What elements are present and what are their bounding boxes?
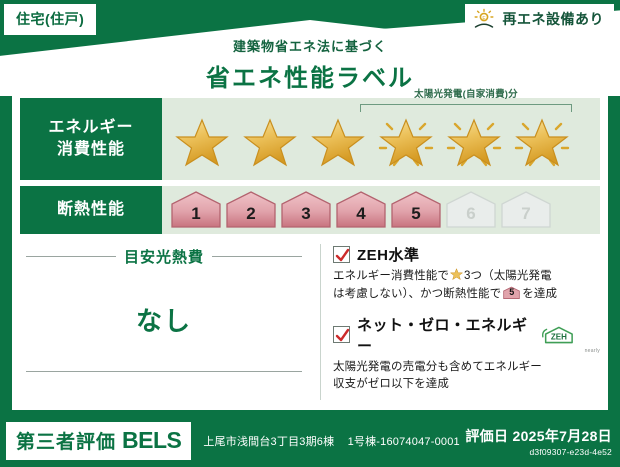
content-card: エネルギー 消費性能 太陽光発電(自家消費)分 <box>12 92 608 410</box>
heading-rule-right <box>212 256 302 257</box>
utility-cost-section: 目安光熱費 なし <box>20 244 320 400</box>
net-zero-title: ネット・ゼロ・エネルギー <box>357 314 533 356</box>
net-zero-energy-block: ネット・ゼロ・エネルギー ZEH nearly 太陽光発電の売電分も含めてエネル… <box>333 314 600 395</box>
insulation-performance-label: 断熱性能 <box>20 186 162 234</box>
renewable-badge-label: 再エネ設備あり <box>503 9 605 29</box>
energy-performance-label: エネルギー 消費性能 <box>20 98 162 180</box>
insulation-level-number: 3 <box>301 204 310 229</box>
mini-house-badge: 5 <box>503 286 520 300</box>
insulation-performance-row: 断熱性能 1 <box>20 186 600 234</box>
energy-label-line2: 消費性能 <box>57 139 125 161</box>
bels-logo-text: BELS <box>122 427 181 454</box>
zeh-standard-block: ZEH水準 エネルギー消費性能で3つ（太陽光発電は考慮しない）、かつ断熱性能で5… <box>333 244 600 304</box>
property-address: 上尾市浅間台3丁目3期6棟 <box>203 436 334 448</box>
utility-cost-value: なし <box>20 301 308 338</box>
net-zero-desc-line2: 収支がゼロ以下を達成 <box>333 378 449 390</box>
insulation-level-4: 4 <box>335 191 387 229</box>
star-icon <box>379 118 433 170</box>
star-icon <box>243 118 297 170</box>
insulation-level-number: 6 <box>466 204 475 229</box>
zeh-desc-part1: エネルギー消費性能で <box>333 270 449 282</box>
evaluation-date-value: 2025年7月28日 <box>512 428 612 444</box>
insulation-level-7: 7 <box>500 191 552 229</box>
insulation-level-2: 2 <box>225 191 277 229</box>
insulation-levels-panel: 1 2 3 <box>162 186 600 234</box>
star-icon <box>447 118 501 170</box>
net-zero-checkbox[interactable] <box>333 326 350 343</box>
bels-japanese-label: 第三者評価 <box>16 427 116 454</box>
check-icon <box>335 248 350 263</box>
evaluation-date-line: 評価日 2025年7月28日 <box>465 426 612 446</box>
solar-star-icon-5 <box>442 112 506 174</box>
energy-stars-panel: 太陽光発電(自家消費)分 <box>162 98 600 180</box>
solar-star-icon-6 <box>510 112 574 174</box>
star-icon-1 <box>170 112 234 174</box>
zeh-standard-title: ZEH水準 <box>357 244 420 265</box>
evaluation-date-label: 評価日 <box>465 428 508 444</box>
insulation-level-number: 5 <box>411 204 420 229</box>
net-zero-desc-line1: 太陽光発電の売電分も含めてエネルギー <box>333 361 542 373</box>
utility-cost-bottom-rule <box>26 371 302 372</box>
energy-performance-row: エネルギー 消費性能 太陽光発電(自家消費)分 <box>20 98 600 180</box>
insulation-level-3: 3 <box>280 191 332 229</box>
bels-certification-mark: 第三者評価 BELS <box>6 422 191 460</box>
energy-performance-label: 住宅(住戸) E 再エネ設備あり 建築物省エネ法に基づく 省エネ性能ラベル エネ… <box>0 0 620 467</box>
utility-cost-heading: 目安光熱費 <box>20 244 308 267</box>
zeh-standard-checkbox[interactable] <box>333 246 350 263</box>
energy-label-line1: エネルギー <box>48 117 133 139</box>
star-icon <box>311 118 365 170</box>
star-icon <box>175 118 229 170</box>
sun-icon: E <box>473 8 497 30</box>
evaluation-date-block: 評価日 2025年7月28日 d3f09307-e23d-4e52 <box>465 426 612 457</box>
zeh-desc-part3: を達成 <box>522 288 557 300</box>
insulation-level-1: 1 <box>170 191 222 229</box>
zeh-standard-description: エネルギー消費性能で3つ（太陽光発電は考慮しない）、かつ断熱性能で5を達成 <box>333 268 600 304</box>
zeh-criteria-section: ZEH水準 エネルギー消費性能で3つ（太陽光発電は考慮しない）、かつ断熱性能で5… <box>320 244 600 400</box>
zeh-desc-part2: は考慮しない）、かつ断熱性能で <box>333 288 501 300</box>
star-icon-2 <box>238 112 302 174</box>
heading-rule-left <box>26 256 116 257</box>
lower-section: 目安光熱費 なし ZEH水準 <box>20 244 600 400</box>
solar-bracket-line <box>360 104 572 112</box>
property-address-line: 上尾市浅間台3丁目3期6棟 1号棟-16074047-0001 <box>203 433 459 449</box>
housing-type-tag: 住宅(住戸) <box>4 4 96 35</box>
zeh-desc-star-count: 3つ（太陽光発電 <box>464 270 552 282</box>
svg-text:ZEH: ZEH <box>551 332 567 341</box>
insulation-level-number: 2 <box>246 204 255 229</box>
solar-star-icon-4 <box>374 112 438 174</box>
zeh-logo-subtext: nearly <box>585 348 600 356</box>
insulation-level-5: 5 <box>390 191 442 229</box>
title-main: 省エネ性能ラベル <box>0 58 620 93</box>
net-zero-title-row: ネット・ゼロ・エネルギー ZEH nearly <box>333 314 600 356</box>
label-title: 建築物省エネ法に基づく 省エネ性能ラベル <box>0 36 620 93</box>
insulation-level-number: 1 <box>191 204 200 229</box>
mini-star-icon <box>450 268 463 281</box>
footer-bar: 第三者評価 BELS 上尾市浅間台3丁目3期6棟 1号棟-16074047-00… <box>0 415 620 467</box>
star-icon-3 <box>306 112 370 174</box>
zeh-standard-title-row: ZEH水準 <box>333 244 600 265</box>
document-hash: d3f09307-e23d-4e52 <box>465 447 612 457</box>
svg-text:E: E <box>482 16 486 22</box>
title-subtitle: 建築物省エネ法に基づく <box>0 36 620 55</box>
mini-house-number: 5 <box>503 286 520 300</box>
insulation-level-number: 7 <box>521 204 530 229</box>
star-icon <box>515 118 569 170</box>
utility-cost-heading-text: 目安光熱費 <box>124 246 204 267</box>
insulation-level-group: 1 2 3 <box>170 191 552 229</box>
net-zero-description: 太陽光発電の売電分も含めてエネルギー収支がゼロ以下を達成 <box>333 359 600 395</box>
check-icon <box>335 328 350 343</box>
renewable-equipment-badge: E 再エネ設備あり <box>465 4 615 35</box>
star-rating-group <box>170 112 574 174</box>
insulation-level-number: 4 <box>356 204 365 229</box>
property-unit-id: 1号棟-16074047-0001 <box>348 436 460 448</box>
insulation-level-6: 6 <box>445 191 497 229</box>
zeh-house-logo-icon: ZEH <box>540 325 578 345</box>
